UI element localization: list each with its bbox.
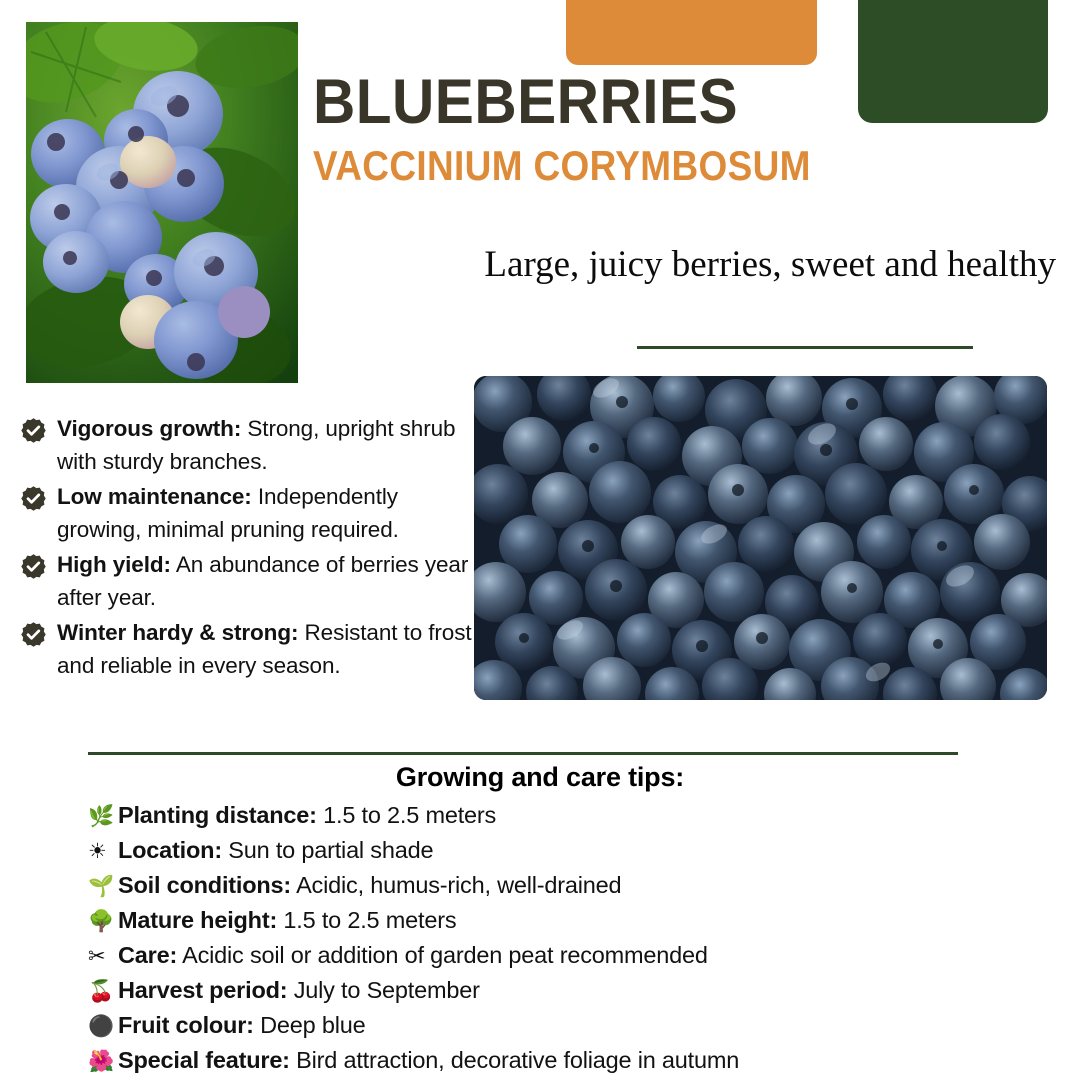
tip-item-body: Acidic soil or addition of garden peat r… xyxy=(177,942,708,968)
list-item: Low maintenance: Independently growing, … xyxy=(20,480,480,546)
feature-list: Vigorous growth: Strong, upright shrub w… xyxy=(20,412,480,684)
list-item-text: Low maintenance: Independently growing, … xyxy=(57,480,480,546)
tip-item-text: Care: Acidic soil or addition of garden … xyxy=(118,939,708,972)
tip-item-body: Acidic, humus-rich, well-drained xyxy=(291,872,621,898)
check-badge-icon xyxy=(20,417,47,444)
tip-item-text: Harvest period: July to September xyxy=(118,974,480,1007)
tip-item-text: Fruit colour: Deep blue xyxy=(118,1009,365,1042)
tip-item-body: 1.5 to 2.5 meters xyxy=(317,802,496,828)
hibiscus-icon: 🌺 xyxy=(88,1045,118,1078)
list-item-label: High yield: xyxy=(57,552,171,577)
tip-item: ⚫ Fruit colour: Deep blue xyxy=(0,1009,1080,1043)
herb-icon: 🌿 xyxy=(88,800,118,833)
tip-item: 🌿 Planting distance: 1.5 to 2.5 meters xyxy=(0,799,1080,833)
list-item: Vigorous growth: Strong, upright shrub w… xyxy=(20,412,480,478)
list-item-label: Winter hardy & strong: xyxy=(57,620,298,645)
hero-image-art xyxy=(26,22,298,383)
list-item-text: High yield: An abundance of berries year… xyxy=(57,548,480,614)
tip-item-label: Soil conditions: xyxy=(118,872,291,898)
tip-item-body: Sun to partial shade xyxy=(222,837,433,863)
tip-item-text: Special feature: Bird attraction, decora… xyxy=(118,1044,739,1077)
page-title: BLUEBERRIES xyxy=(313,70,964,134)
title-block: BLUEBERRIES VACCINIUM CORYMBOSUM xyxy=(313,70,1013,192)
tip-item-label: Harvest period: xyxy=(118,977,287,1003)
scissors-icon: ✂ xyxy=(88,940,118,973)
tagline-divider xyxy=(637,346,973,349)
tip-item: ✂ Care: Acidic soil or addition of garde… xyxy=(0,939,1080,973)
check-badge-icon xyxy=(20,553,47,580)
list-item: High yield: An abundance of berries year… xyxy=(20,548,480,614)
seedling-icon: 🌱 xyxy=(88,870,118,903)
tip-item-text: Mature height: 1.5 to 2.5 meters xyxy=(118,904,456,937)
black-circle-icon: ⚫ xyxy=(88,1010,118,1043)
tip-item-body: Bird attraction, decorative foliage in a… xyxy=(290,1047,739,1073)
tip-item-body: 1.5 to 2.5 meters xyxy=(277,907,456,933)
tip-item-label: Planting distance: xyxy=(118,802,317,828)
tip-item-body: July to September xyxy=(287,977,479,1003)
berry-image-art xyxy=(474,376,1047,700)
tip-item-label: Fruit colour: xyxy=(118,1012,254,1038)
tip-item: 🍒 Harvest period: July to September xyxy=(0,974,1080,1008)
tip-item-label: Location: xyxy=(118,837,222,863)
list-item-label: Vigorous growth: xyxy=(57,416,241,441)
tips-section: Growing and care tips: 🌿 Planting distan… xyxy=(0,762,1080,1079)
tip-item: 🌺 Special feature: Bird attraction, deco… xyxy=(0,1044,1080,1078)
list-item-text: Vigorous growth: Strong, upright shrub w… xyxy=(57,412,480,478)
hero-blueberry-bush-image xyxy=(26,22,298,383)
tip-item-label: Mature height: xyxy=(118,907,277,933)
cherries-icon: 🍒 xyxy=(88,975,118,1008)
decorative-orange-block xyxy=(566,0,817,65)
list-item-text: Winter hardy & strong: Resistant to fros… xyxy=(57,616,480,682)
list-item-label: Low maintenance: xyxy=(57,484,252,509)
sun-icon: ☀ xyxy=(88,835,118,868)
blueberry-pile-image xyxy=(474,376,1047,700)
tip-item: 🌳 Mature height: 1.5 to 2.5 meters xyxy=(0,904,1080,938)
tip-item-text: Soil conditions: Acidic, humus-rich, wel… xyxy=(118,869,621,902)
check-badge-icon xyxy=(20,621,47,648)
tagline: Large, juicy berries, sweet and healthy xyxy=(484,243,1056,287)
list-item: Winter hardy & strong: Resistant to fros… xyxy=(20,616,480,682)
tip-item-label: Care: xyxy=(118,942,177,968)
tips-heading: Growing and care tips: xyxy=(0,762,1080,793)
tip-item: ☀ Location: Sun to partial shade xyxy=(0,834,1080,868)
tip-item-body: Deep blue xyxy=(254,1012,366,1038)
tree-icon: 🌳 xyxy=(88,905,118,938)
page-subtitle-latin-name: VACCINIUM CORYMBOSUM xyxy=(313,140,929,192)
tip-item-label: Special feature: xyxy=(118,1047,290,1073)
tip-item-text: Location: Sun to partial shade xyxy=(118,834,433,867)
tip-item-text: Planting distance: 1.5 to 2.5 meters xyxy=(118,799,496,832)
tips-divider xyxy=(88,752,958,755)
tip-item: 🌱 Soil conditions: Acidic, humus-rich, w… xyxy=(0,869,1080,903)
check-badge-icon xyxy=(20,485,47,512)
